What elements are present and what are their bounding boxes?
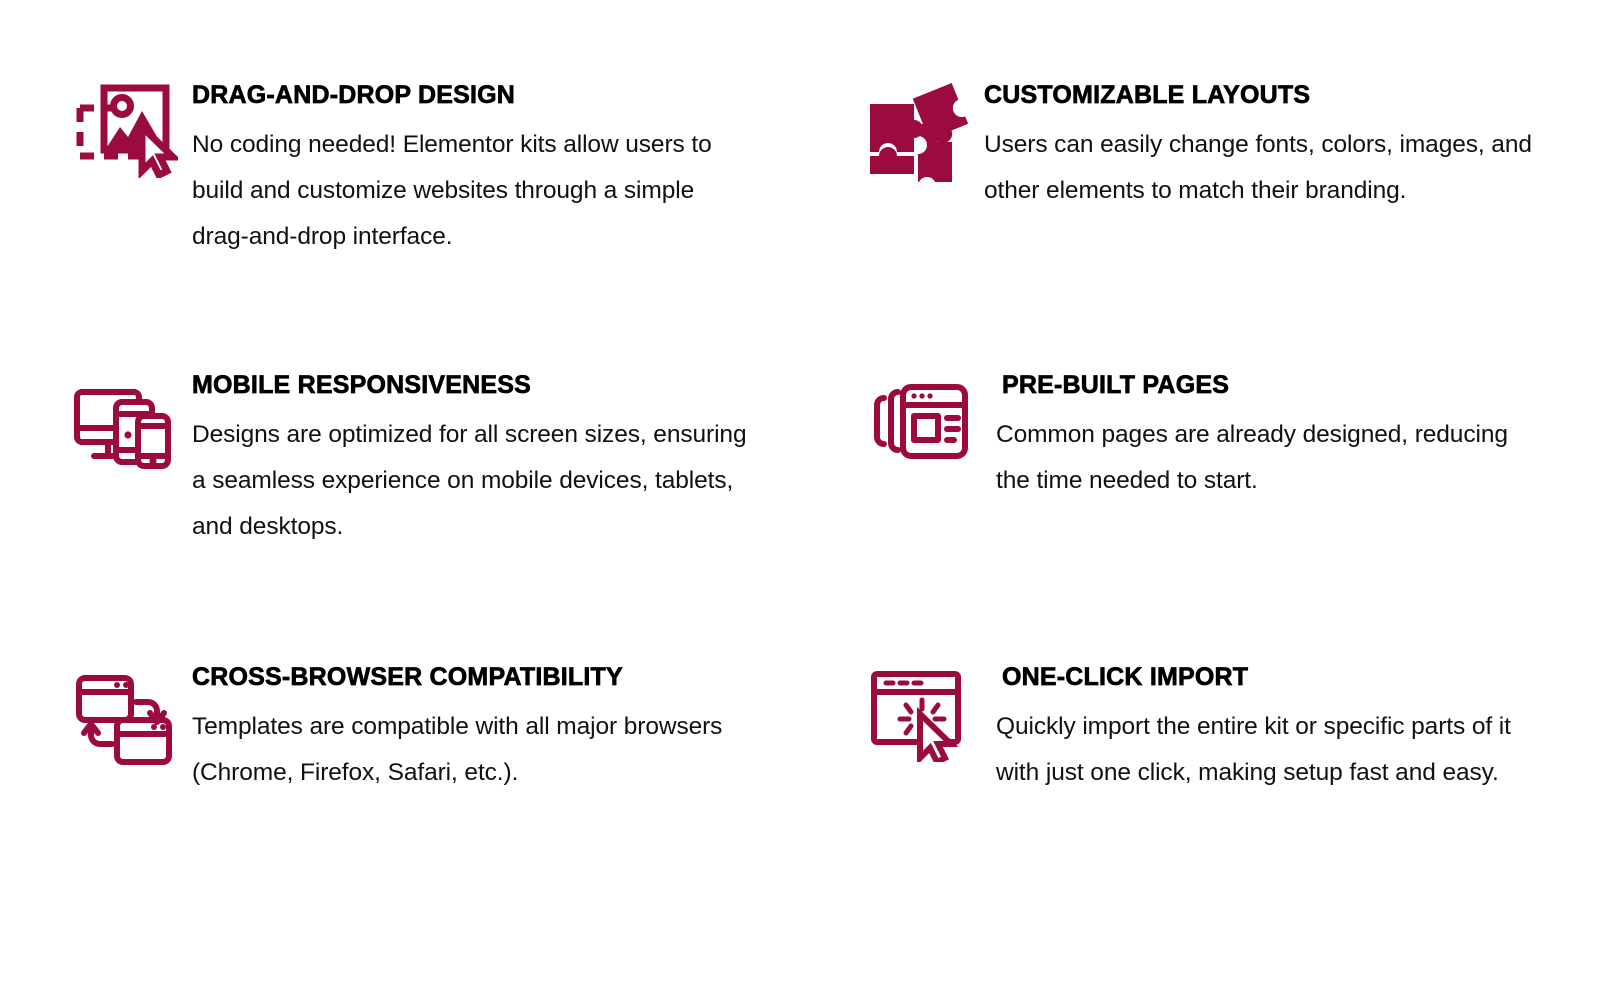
stacked-pages-icon [862, 374, 970, 474]
feature-description: Quickly import the entire kit or specifi… [984, 704, 1544, 796]
feature-card-cross-browser-compatibility: CROSS-BROWSER COMPATIBILITY Templates ar… [0, 658, 800, 948]
feature-description: Users can easily change fonts, colors, i… [984, 122, 1544, 214]
feature-card-customizable-layouts: CUSTOMIZABLE LAYOUTS Users can easily ch… [800, 78, 1600, 368]
feature-description: Designs are optimized for all screen siz… [192, 412, 752, 550]
feature-description: Common pages are already designed, reduc… [984, 412, 1544, 504]
feature-text-block: CROSS-BROWSER COMPATIBILITY Templates ar… [192, 658, 752, 796]
feature-description: No coding needed! Elementor kits allow u… [192, 122, 752, 260]
click-import-icon [862, 662, 970, 762]
browser-sync-icon [70, 668, 178, 768]
feature-text-block: PRE-BUILT PAGES Common pages are already… [984, 368, 1544, 504]
feature-text-block: CUSTOMIZABLE LAYOUTS Users can easily ch… [984, 78, 1544, 214]
feature-title: DRAG-AND-DROP DESIGN [192, 82, 752, 108]
feature-title: MOBILE RESPONSIVENESS [192, 372, 752, 398]
feature-title: PRE-BUILT PAGES [984, 372, 1544, 398]
feature-text-block: MOBILE RESPONSIVENESS Designs are optimi… [192, 368, 752, 550]
puzzle-pieces-icon [862, 82, 970, 182]
devices-responsive-icon [70, 378, 178, 478]
feature-card-one-click-import: ONE-CLICK IMPORT Quickly import the enti… [800, 658, 1600, 948]
feature-card-pre-built-pages: PRE-BUILT PAGES Common pages are already… [800, 368, 1600, 658]
feature-text-block: DRAG-AND-DROP DESIGN No coding needed! E… [192, 78, 752, 260]
feature-text-block: ONE-CLICK IMPORT Quickly import the enti… [984, 658, 1544, 796]
features-grid: DRAG-AND-DROP DESIGN No coding needed! E… [0, 0, 1600, 1000]
feature-title: CROSS-BROWSER COMPATIBILITY [192, 664, 752, 690]
image-drag-drop-icon [70, 78, 178, 178]
feature-title: ONE-CLICK IMPORT [984, 664, 1544, 690]
feature-card-mobile-responsiveness: MOBILE RESPONSIVENESS Designs are optimi… [0, 368, 800, 658]
feature-description: Templates are compatible with all major … [192, 704, 752, 796]
feature-card-drag-and-drop-design: DRAG-AND-DROP DESIGN No coding needed! E… [0, 78, 800, 368]
feature-title: CUSTOMIZABLE LAYOUTS [984, 82, 1544, 108]
